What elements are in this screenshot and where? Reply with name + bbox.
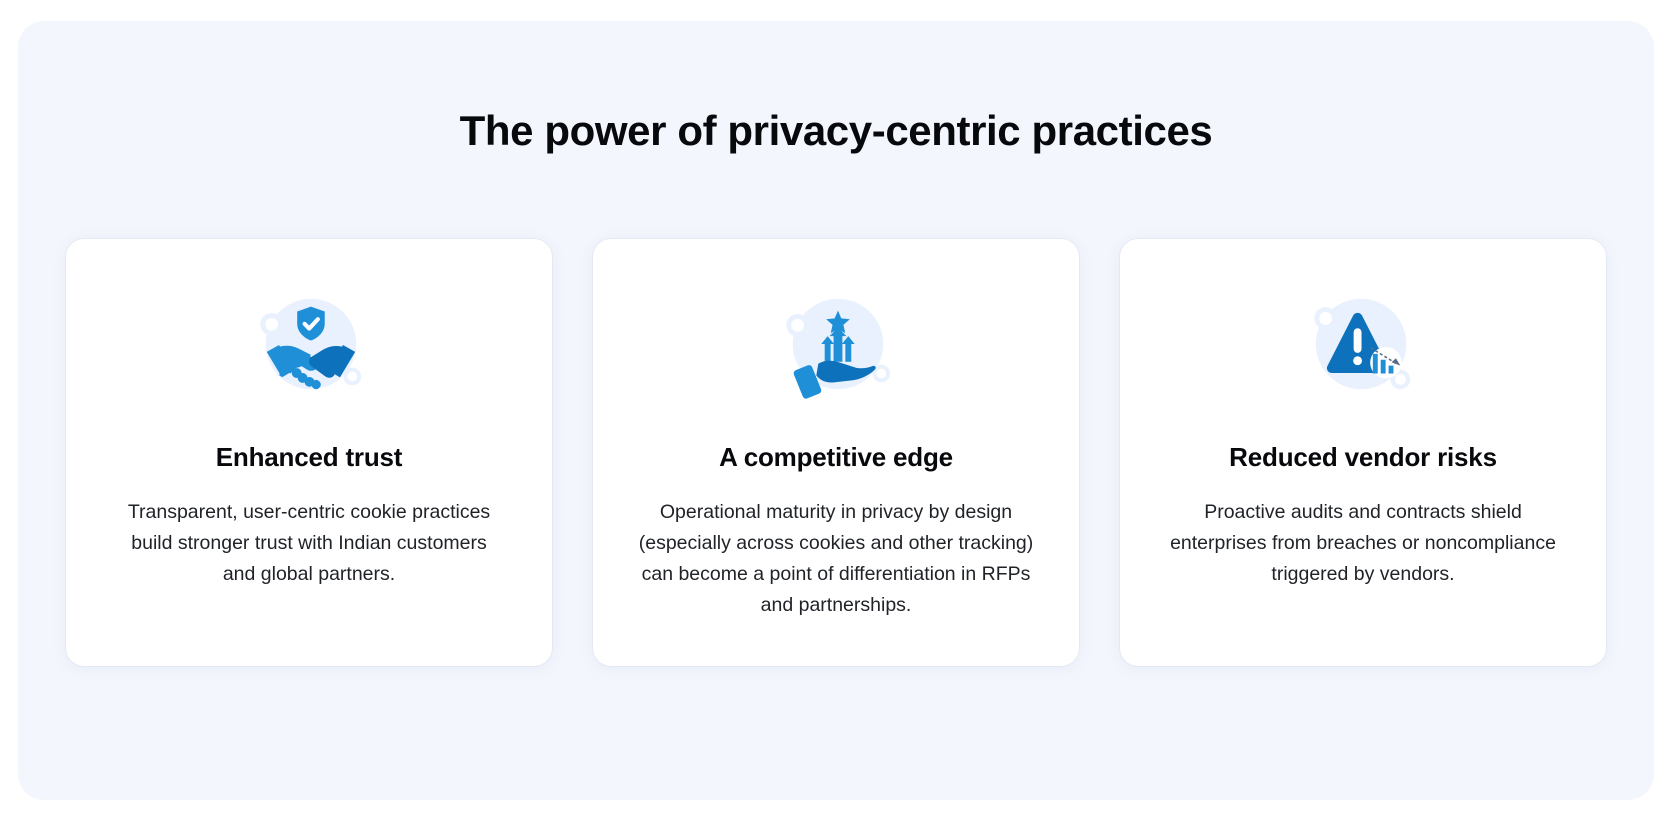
- content-panel: The power of privacy-centric practices: [18, 21, 1654, 800]
- card-body-text: Operational maturity in privacy by desig…: [636, 497, 1036, 621]
- page-title: The power of privacy-centric practices: [18, 105, 1654, 157]
- card-body-text: Transparent, user-centric cookie practic…: [113, 497, 505, 590]
- benefit-card-reduced-vendor-risks[interactable]: Reduced vendor risks Proactive audits an…: [1120, 239, 1606, 666]
- page-root: The power of privacy-centric practices: [0, 0, 1672, 822]
- warning-triangle-declining-chart-icon: [1304, 285, 1422, 403]
- benefit-card-competitive-edge[interactable]: A competitive edge Operational maturity …: [593, 239, 1079, 666]
- card-title: Enhanced trust: [216, 441, 402, 473]
- hand-growth-arrows-star-icon: [777, 285, 895, 403]
- card-body-text: Proactive audits and contracts shield en…: [1163, 497, 1563, 590]
- card-title: Reduced vendor risks: [1229, 441, 1497, 473]
- handshake-shield-icon: [250, 285, 368, 403]
- card-group: Enhanced trust Transparent, user-centric…: [66, 239, 1606, 666]
- benefit-card-enhanced-trust[interactable]: Enhanced trust Transparent, user-centric…: [66, 239, 552, 666]
- card-title: A competitive edge: [719, 441, 953, 473]
